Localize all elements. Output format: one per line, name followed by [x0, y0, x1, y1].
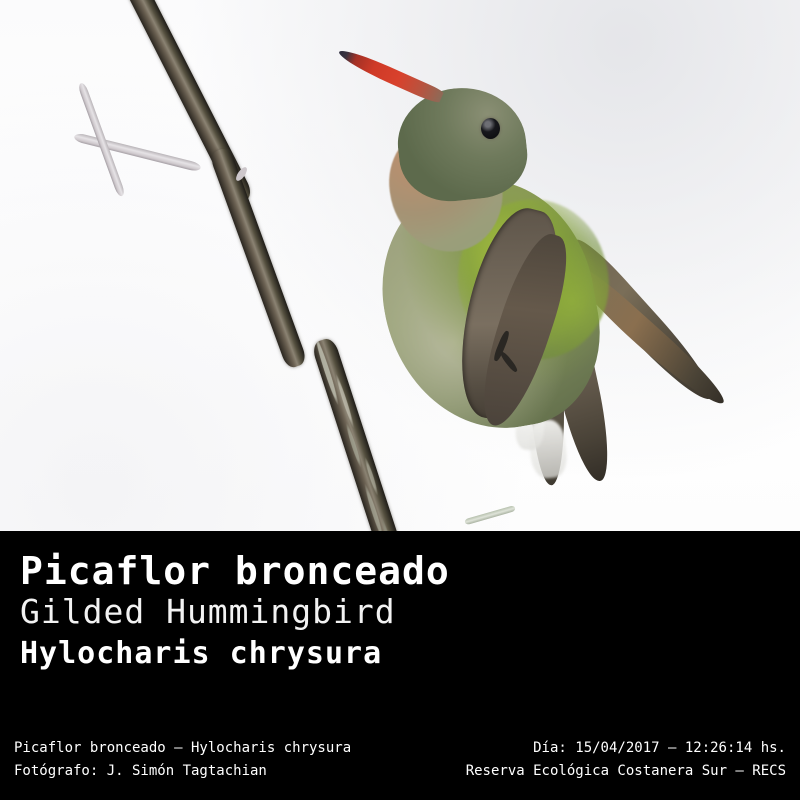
footer-datetime-line: Día: 15/04/2017 – 12:26:14 hs. [466, 737, 786, 760]
caption-band: Picaflor bronceado Gilded Hummingbird Hy… [0, 531, 800, 800]
photo-card: Picaflor bronceado Gilded Hummingbird Hy… [0, 0, 800, 800]
common-name-english: Gilded Hummingbird [20, 592, 620, 632]
species-title-block: Picaflor bronceado Gilded Hummingbird Hy… [20, 550, 620, 674]
footer-meta-block: Día: 15/04/2017 – 12:26:14 hs. Reserva E… [466, 737, 786, 783]
footer-photographer-line: Fotógrafo: J. Simón Tagtachian [14, 760, 351, 783]
footer-location-line: Reserva Ecológica Costanera Sur – RECS [466, 760, 786, 783]
bird-photograph [0, 0, 800, 531]
hummingbird [330, 30, 750, 460]
footer-credit-block: Picaflor bronceado – Hylocharis chrysura… [14, 737, 351, 783]
bird-eye [481, 118, 500, 139]
footer-species-line: Picaflor bronceado – Hylocharis chrysura [14, 737, 351, 760]
bird-bill [336, 46, 444, 105]
scientific-name: Hylocharis chrysura [20, 634, 620, 674]
common-name-spanish: Picaflor bronceado [20, 550, 620, 592]
